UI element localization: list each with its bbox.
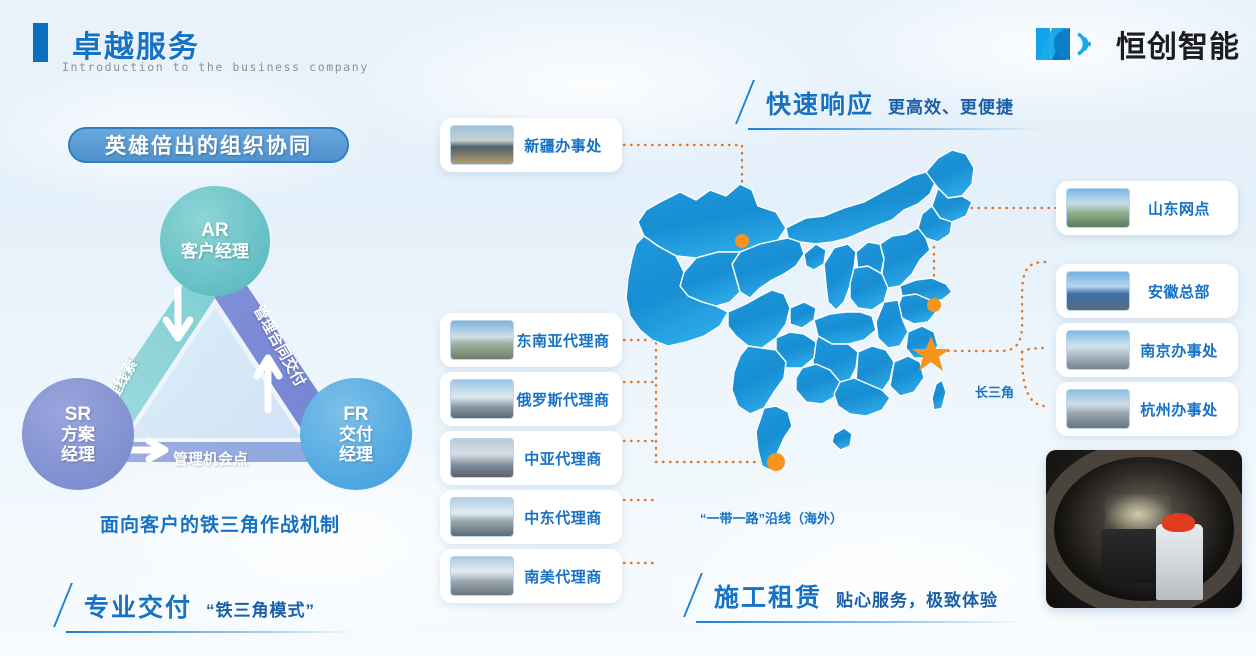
banner-pro-delivery: 专业交付 “铁三角模式” (62, 588, 315, 624)
site-card-southeast-asia[interactable]: 东南亚代理商 (440, 313, 622, 367)
hc-logo-icon (1034, 24, 1108, 64)
banner-underline (748, 128, 1046, 130)
banner-subtitle: “铁三角模式” (206, 596, 315, 621)
shandong-marker (927, 298, 941, 312)
role-name-line1: 交付 (339, 425, 373, 444)
banner-title: 施工租赁 (714, 578, 822, 614)
site-thumbnail (450, 497, 514, 537)
site-card-label: 南京办事处 (1130, 340, 1228, 361)
site-thumbnail (450, 556, 514, 596)
china-map (600, 140, 1060, 500)
triangle-caption: 面向客户的铁三角作战机制 (10, 510, 430, 537)
site-card-shandong[interactable]: 山东网点 (1056, 181, 1238, 235)
header-accent-bar (33, 23, 48, 62)
role-node-sr: SR 方案 经理 (22, 378, 134, 490)
site-card-central-asia[interactable]: 中亚代理商 (440, 431, 622, 485)
role-name-line2: 经理 (339, 445, 373, 464)
site-thumbnail (450, 438, 514, 478)
tunnel-construction-photo (1046, 450, 1242, 608)
role-node-fr: FR 交付 经理 (300, 378, 412, 490)
site-card-label: 东南亚代理商 (514, 330, 612, 351)
logo-text: 恒创智能 (1116, 22, 1240, 66)
company-logo: 恒创智能 (1034, 22, 1240, 66)
site-card-label: 中东代理商 (514, 507, 612, 528)
site-thumbnail (1066, 389, 1130, 429)
page-subtitle: Introduction to the business company (62, 60, 369, 74)
worker-body (1156, 524, 1203, 600)
site-thumbnail (450, 320, 514, 360)
role-name: 客户经理 (181, 242, 249, 261)
site-card-anhui-hq[interactable]: 安徽总部 (1056, 264, 1238, 318)
site-card-label: 南美代理商 (514, 566, 612, 587)
overseas-marker (767, 453, 785, 471)
iron-triangle-diagram: 管理线索 管理合同交付 管理机会点 AR 客户经理 SR 方案 经理 FR 交付… (10, 180, 430, 500)
xinjiang-marker (735, 234, 749, 248)
role-abbr: AR (201, 220, 228, 242)
site-card-middle-east[interactable]: 中东代理商 (440, 490, 622, 544)
site-card-label: 中亚代理商 (514, 448, 612, 469)
map-label-belt-and-road: “一带一路”沿线（海外） (700, 508, 843, 527)
role-node-ar: AR 客户经理 (160, 186, 270, 296)
site-card-xinjiang[interactable]: 新疆办事处 (440, 118, 622, 172)
site-thumbnail (1066, 271, 1130, 311)
tunnel-machine (1101, 529, 1160, 583)
site-card-label: 山东网点 (1130, 198, 1228, 219)
banner-slash-icon (735, 80, 755, 124)
role-abbr: FR (343, 404, 368, 426)
site-card-south-america[interactable]: 南美代理商 (440, 549, 622, 603)
site-card-hangzhou[interactable]: 杭州办事处 (1056, 382, 1238, 436)
site-card-nanjing[interactable]: 南京办事处 (1056, 323, 1238, 377)
banner-underline (66, 631, 356, 633)
site-thumbnail (1066, 188, 1130, 228)
role-name-line1: 方案 (61, 425, 95, 444)
site-thumbnail (1066, 330, 1130, 370)
site-card-russia[interactable]: 俄罗斯代理商 (440, 372, 622, 426)
map-label-yangtze-delta: 长三角 (975, 382, 1014, 401)
banner-slash-icon (683, 573, 703, 617)
edge-label-bottom: 管理机会点 (173, 448, 248, 469)
worker-helmet-icon (1162, 513, 1195, 532)
site-thumbnail (450, 379, 514, 419)
china-map-svg (600, 140, 1060, 500)
org-pill-title: 英雄倍出的组织协同 (68, 127, 349, 163)
site-card-label: 俄罗斯代理商 (514, 389, 612, 410)
role-name-line2: 经理 (61, 445, 95, 464)
banner-title: 快速响应 (766, 85, 874, 121)
role-abbr: SR (65, 404, 91, 426)
banner-title: 专业交付 (84, 588, 192, 624)
site-card-label: 新疆办事处 (514, 135, 612, 156)
banner-underline (696, 621, 1026, 623)
banner-subtitle: 贴心服务，极致体验 (836, 586, 998, 611)
site-thumbnail (450, 125, 514, 165)
site-card-label: 杭州办事处 (1130, 399, 1228, 420)
banner-fast-response: 快速响应 更高效、更便捷 (744, 85, 1014, 121)
banner-subtitle: 更高效、更便捷 (888, 93, 1014, 118)
banner-slash-icon (53, 583, 73, 627)
site-card-label: 安徽总部 (1130, 281, 1228, 302)
banner-construction-lease: 施工租赁 贴心服务，极致体验 (692, 578, 998, 614)
